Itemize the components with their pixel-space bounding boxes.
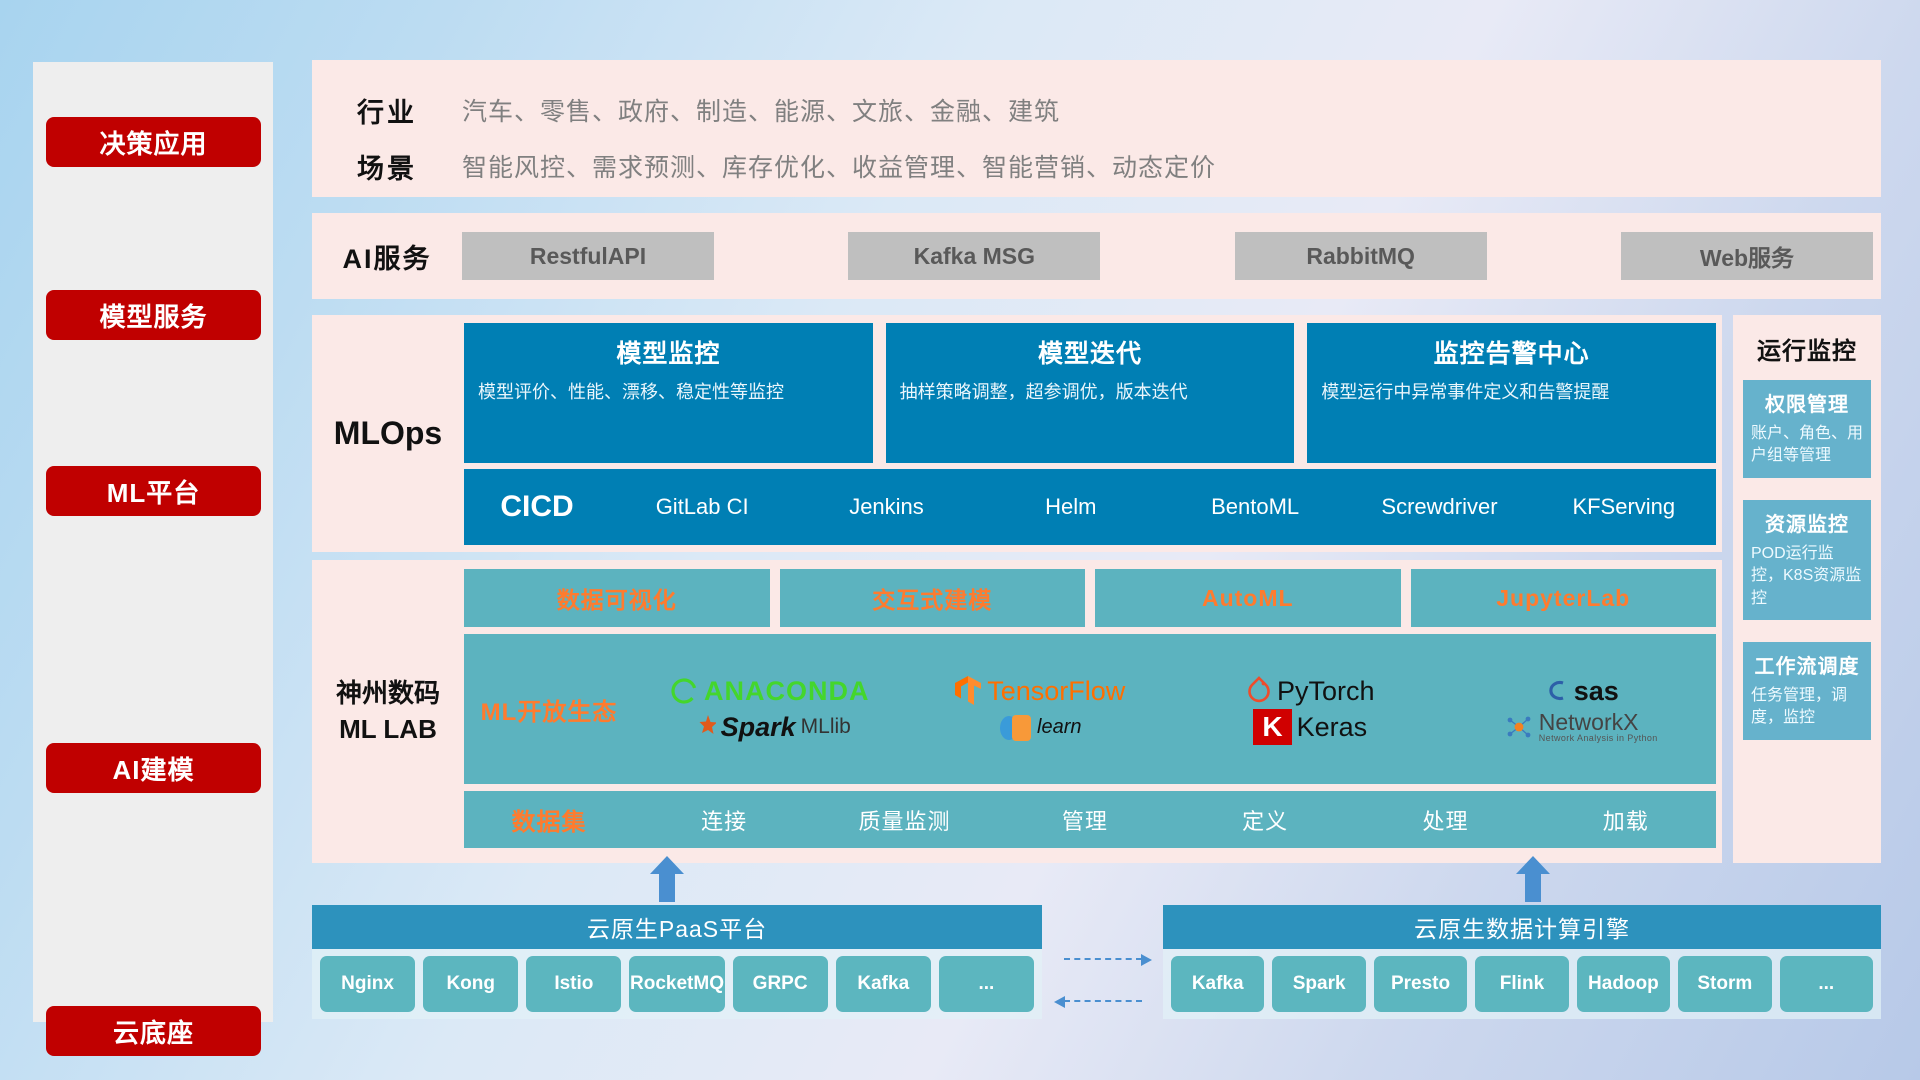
industry-label: 行业 bbox=[312, 91, 462, 130]
mlops-label: MLOps bbox=[312, 315, 464, 552]
mlops-body: 模型监控 模型评价、性能、漂移、稳定性等监控 模型迭代 抽样策略调整，超参调优，… bbox=[464, 315, 1722, 552]
ml-lab-label: 神州数码 ML LAB bbox=[312, 560, 464, 863]
pytorch-logo: PyTorch bbox=[1246, 676, 1375, 707]
dataset-cell-process[interactable]: 处理 bbox=[1355, 804, 1535, 836]
spark-logo-text: Spark bbox=[721, 712, 796, 743]
mllib-logo-text: MLlib bbox=[801, 715, 851, 739]
mlops-cards: 模型监控 模型评价、性能、漂移、稳定性等监控 模型迭代 抽样策略调整，超参调优，… bbox=[464, 323, 1716, 463]
ai-service-restfulapi[interactable]: RestfulAPI bbox=[462, 232, 714, 280]
card-title: 监控告警中心 bbox=[1321, 334, 1702, 370]
keras-logo: K Keras bbox=[1253, 709, 1367, 745]
dataset-cell-load[interactable]: 加载 bbox=[1536, 804, 1716, 836]
ecosystem-logos: ANACONDA TensorFlow bbox=[634, 673, 1716, 745]
paas-title: 云原生PaaS平台 bbox=[312, 905, 1042, 949]
tensorflow-logo-text: TensorFlow bbox=[987, 676, 1125, 707]
engine-chip-flink[interactable]: Flink bbox=[1475, 956, 1568, 1012]
engine-title: 云原生数据计算引擎 bbox=[1163, 905, 1881, 949]
rail-item-label: 云底座 bbox=[113, 1013, 194, 1050]
card-title: 权限管理 bbox=[1751, 388, 1863, 417]
monitoring-card-permissions[interactable]: 权限管理 账户、角色、用户组等管理 bbox=[1743, 380, 1871, 478]
cicd-tool-kfserving[interactable]: KFServing bbox=[1532, 494, 1716, 520]
engine-chip-storm[interactable]: Storm bbox=[1678, 956, 1771, 1012]
engine-chips: Kafka Spark Presto Flink Hadoop Storm ..… bbox=[1163, 949, 1881, 1019]
ml-lab-body: 数据可视化 交互式建模 AutoML JupyterLab ML开放生态 ANA… bbox=[464, 560, 1722, 863]
dataset-cell-connect[interactable]: 连接 bbox=[634, 804, 814, 836]
tab-automl[interactable]: AutoML bbox=[1095, 569, 1401, 627]
tab-jupyterlab[interactable]: JupyterLab bbox=[1411, 569, 1717, 627]
arrow-right-icon bbox=[1064, 958, 1142, 960]
industry-value: 汽车、零售、政府、制造、能源、文旅、金融、建筑 bbox=[462, 92, 1060, 128]
engine-chip-spark[interactable]: Spark bbox=[1272, 956, 1365, 1012]
card-title: 资源监控 bbox=[1751, 508, 1863, 537]
ml-lab-panel: 神州数码 ML LAB 数据可视化 交互式建模 AutoML JupyterLa… bbox=[312, 560, 1722, 863]
card-title: 工作流调度 bbox=[1751, 650, 1863, 679]
spark-mllib-logo: Spark MLlib bbox=[688, 712, 851, 743]
layer-rail: 决策应用 模型服务 ML平台 AI建模 云底座 bbox=[33, 62, 273, 1022]
ai-services-label: AI服务 bbox=[312, 237, 462, 276]
card-desc: POD运行监控，K8S资源监控 bbox=[1751, 543, 1863, 610]
monitoring-card-resources[interactable]: 资源监控 POD运行监控，K8S资源监控 bbox=[1743, 500, 1871, 620]
anaconda-logo-text: ANACONDA bbox=[704, 676, 870, 707]
card-desc: 模型运行中异常事件定义和告警提醒 bbox=[1321, 379, 1702, 405]
rail-item-label: AI建模 bbox=[112, 750, 194, 787]
rail-item-label: ML平台 bbox=[107, 473, 201, 510]
rail-item-model-service[interactable]: 模型服务 bbox=[46, 290, 261, 340]
paas-chip-kong[interactable]: Kong bbox=[423, 956, 518, 1012]
keras-logo-mark: K bbox=[1253, 709, 1291, 745]
scenario-value: 智能风控、需求预测、库存优化、收益管理、智能营销、动态定价 bbox=[462, 148, 1216, 184]
engine-chip-presto[interactable]: Presto bbox=[1374, 956, 1467, 1012]
dataset-cell-define[interactable]: 定义 bbox=[1175, 804, 1355, 836]
networkx-logo-tagline: Network Analysis in Python bbox=[1539, 734, 1658, 743]
dataset-cells: 连接 质量监测 管理 定义 处理 加载 bbox=[634, 804, 1716, 836]
cicd-row: CICD GitLab CI Jenkins Helm BentoML Scre… bbox=[464, 469, 1716, 545]
paas-chip-istio[interactable]: Istio bbox=[526, 956, 621, 1012]
scikit-learn-logo-text: learn bbox=[1037, 716, 1081, 739]
card-title: 模型迭代 bbox=[900, 334, 1281, 370]
mlops-panel: MLOps 模型监控 模型评价、性能、漂移、稳定性等监控 模型迭代 抽样策略调整… bbox=[312, 315, 1722, 552]
anaconda-logo: ANACONDA bbox=[669, 676, 870, 707]
cicd-tool-bentoml[interactable]: BentoML bbox=[1163, 494, 1347, 520]
mlops-card-model-iteration[interactable]: 模型迭代 抽样策略调整，超参调优，版本迭代 bbox=[886, 323, 1295, 463]
scikit-learn-logo: learn bbox=[998, 710, 1081, 744]
rail-item-ai-modeling[interactable]: AI建模 bbox=[46, 743, 261, 793]
tensorflow-logo: TensorFlow bbox=[954, 675, 1125, 707]
pytorch-logo-text: PyTorch bbox=[1277, 676, 1375, 707]
cicd-tool-helm[interactable]: Helm bbox=[979, 494, 1163, 520]
sas-logo: sas bbox=[1543, 676, 1619, 707]
industry-row: 行业 汽车、零售、政府、制造、能源、文旅、金融、建筑 bbox=[312, 86, 1881, 134]
card-title: 模型监控 bbox=[478, 334, 859, 370]
monitoring-card-workflow[interactable]: 工作流调度 任务管理，调度，监控 bbox=[1743, 642, 1871, 740]
cicd-tool-jenkins[interactable]: Jenkins bbox=[794, 494, 978, 520]
mlops-card-alert-center[interactable]: 监控告警中心 模型运行中异常事件定义和告警提醒 bbox=[1307, 323, 1716, 463]
paas-chip-more[interactable]: ... bbox=[939, 956, 1034, 1012]
dataset-cell-quality-monitor[interactable]: 质量监测 bbox=[814, 804, 994, 836]
cicd-tools: GitLab CI Jenkins Helm BentoML Screwdriv… bbox=[610, 494, 1716, 520]
tab-data-visualization[interactable]: 数据可视化 bbox=[464, 569, 770, 627]
ml-lab-label-line2: ML LAB bbox=[339, 712, 437, 747]
engine-chip-kafka[interactable]: Kafka bbox=[1171, 956, 1264, 1012]
engine-chip-more[interactable]: ... bbox=[1780, 956, 1873, 1012]
card-desc: 抽样策略调整，超参调优，版本迭代 bbox=[900, 379, 1281, 405]
paas-chip-grpc[interactable]: GRPC bbox=[733, 956, 828, 1012]
networkx-logo: NetworkX Network Analysis in Python bbox=[1504, 711, 1658, 743]
rail-item-label: 决策应用 bbox=[99, 124, 207, 161]
paas-chip-nginx[interactable]: Nginx bbox=[320, 956, 415, 1012]
networkx-logo-text: NetworkX bbox=[1539, 711, 1658, 734]
dataset-label: 数据集 bbox=[464, 802, 634, 837]
architecture-diagram: 决策应用 模型服务 ML平台 AI建模 云底座 行业 汽车、零售、政府、制造、能… bbox=[0, 0, 1920, 1080]
rail-item-cloud-base[interactable]: 云底座 bbox=[46, 1006, 261, 1056]
scenario-label: 场景 bbox=[312, 147, 462, 186]
sas-logo-text: sas bbox=[1574, 676, 1619, 707]
decision-applications-panel: 行业 汽车、零售、政府、制造、能源、文旅、金融、建筑 场景 智能风控、需求预测、… bbox=[312, 60, 1881, 197]
ml-open-ecosystem-label: ML开放生态 bbox=[464, 692, 634, 727]
scenario-row: 场景 智能风控、需求预测、库存优化、收益管理、智能营销、动态定价 bbox=[312, 142, 1881, 190]
ai-services-list: RestfulAPI Kafka MSG RabbitMQ Web服务 bbox=[462, 232, 1881, 280]
ai-service-web[interactable]: Web服务 bbox=[1621, 232, 1873, 280]
card-desc: 账户、角色、用户组等管理 bbox=[1751, 423, 1863, 468]
card-desc: 任务管理，调度，监控 bbox=[1751, 685, 1863, 730]
paas-chip-kafka[interactable]: Kafka bbox=[836, 956, 931, 1012]
cicd-label: CICD bbox=[464, 490, 610, 524]
dataset-row: 数据集 连接 质量监测 管理 定义 处理 加载 bbox=[464, 791, 1716, 848]
card-desc: 模型评价、性能、漂移、稳定性等监控 bbox=[478, 379, 859, 405]
ml-lab-label-line1: 神州数码 bbox=[336, 676, 440, 711]
paas-chips: Nginx Kong Istio RocketMQ GRPC Kafka ... bbox=[312, 949, 1042, 1019]
cloud-native-paas-block: 云原生PaaS平台 Nginx Kong Istio RocketMQ GRPC… bbox=[312, 905, 1042, 1019]
rail-item-ml-platform[interactable]: ML平台 bbox=[46, 466, 261, 516]
paas-chip-rocketmq[interactable]: RocketMQ bbox=[629, 956, 724, 1012]
tab-interactive-modeling[interactable]: 交互式建模 bbox=[780, 569, 1086, 627]
ai-service-rabbitmq[interactable]: RabbitMQ bbox=[1235, 232, 1487, 280]
mlops-card-model-monitoring[interactable]: 模型监控 模型评价、性能、漂移、稳定性等监控 bbox=[464, 323, 873, 463]
ml-lab-tabs: 数据可视化 交互式建模 AutoML JupyterLab bbox=[464, 569, 1716, 627]
arrow-left-icon bbox=[1064, 1000, 1142, 1002]
dataset-cell-manage[interactable]: 管理 bbox=[995, 804, 1175, 836]
engine-chip-hadoop[interactable]: Hadoop bbox=[1577, 956, 1670, 1012]
runtime-monitoring-panel: 运行监控 权限管理 账户、角色、用户组等管理 资源监控 POD运行监控，K8S资… bbox=[1733, 315, 1881, 863]
cicd-tool-gitlab-ci[interactable]: GitLab CI bbox=[610, 494, 794, 520]
arrow-up-icon-engine bbox=[1516, 856, 1550, 902]
ai-service-kafka-msg[interactable]: Kafka MSG bbox=[848, 232, 1100, 280]
rail-item-decision-apps[interactable]: 决策应用 bbox=[46, 117, 261, 167]
monitoring-title: 运行监控 bbox=[1743, 331, 1871, 366]
cicd-tool-screwdriver[interactable]: Screwdriver bbox=[1347, 494, 1531, 520]
ai-services-panel: AI服务 RestfulAPI Kafka MSG RabbitMQ Web服务 bbox=[312, 213, 1881, 299]
ml-open-ecosystem-row: ML开放生态 ANACONDA TensorFlow bbox=[464, 634, 1716, 784]
keras-logo-text: Keras bbox=[1297, 712, 1368, 743]
cloud-native-data-engine-block: 云原生数据计算引擎 Kafka Spark Presto Flink Hadoo… bbox=[1163, 905, 1881, 1019]
arrow-up-icon-paas bbox=[650, 856, 684, 902]
rail-item-label: 模型服务 bbox=[99, 297, 207, 334]
